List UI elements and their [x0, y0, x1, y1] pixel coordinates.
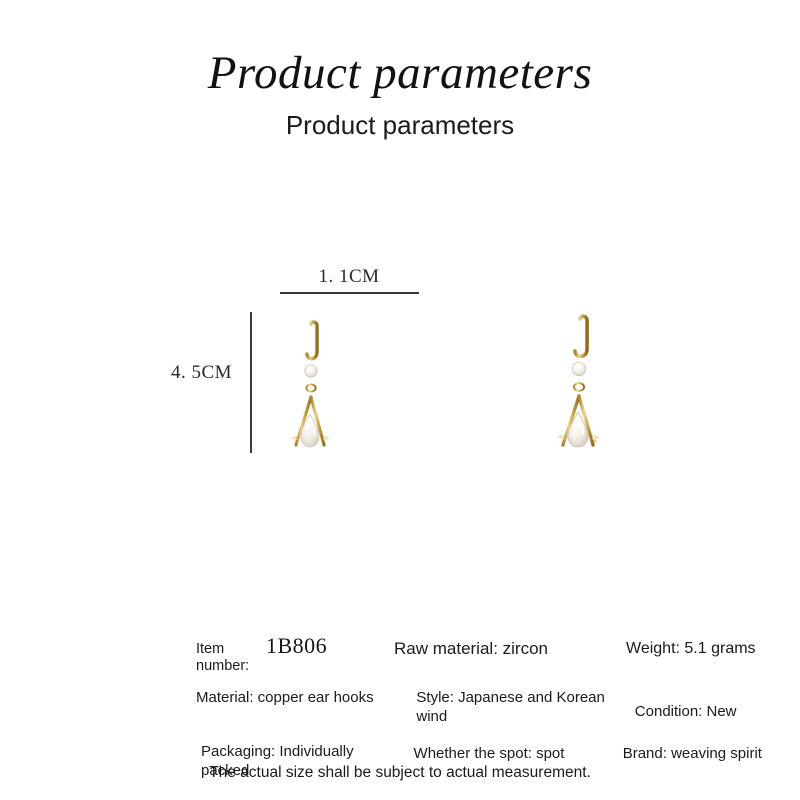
- page-title-script: Product parameters: [0, 48, 800, 100]
- dimension-width-label: 1. 1CM: [280, 266, 418, 288]
- spec-material: Material: copper ear hooks: [196, 689, 382, 708]
- dimension-height-rule: [250, 312, 252, 453]
- spec-item-number-value: 1B806: [266, 632, 327, 660]
- table-row: Material: copper ear hooks Style: Japane…: [196, 689, 776, 727]
- spec-item-number: Item number: 1B806: [196, 632, 394, 675]
- size-disclaimer: The actual size shall be subject to actu…: [0, 764, 800, 782]
- spec-item-number-label: Item number:: [196, 641, 258, 675]
- earring-left-icon: [284, 318, 354, 458]
- spec-weight: Weight: 5.1 grams: [626, 632, 776, 659]
- earring-image-right: [549, 313, 624, 463]
- spec-whether-spot: Whether the spot: spot: [380, 743, 623, 764]
- earring-right-icon: [549, 313, 624, 458]
- dimension-height-label: 4. 5CM: [171, 362, 232, 384]
- spec-style: Style: Japanese and Korean wind: [382, 689, 634, 727]
- spec-raw-material: Raw material: zircon: [394, 632, 626, 659]
- specification-table: Item number: 1B806 Raw material: zircon …: [196, 632, 776, 781]
- spec-condition: Condition: New: [635, 689, 776, 722]
- page-title-subtitle: Product parameters: [0, 110, 800, 141]
- dimension-width-rule: [280, 292, 419, 294]
- product-parameters-page: Product parameters Product parameters 1.…: [0, 0, 800, 800]
- spec-brand: Brand: weaving spirit: [623, 743, 776, 764]
- table-row: Item number: 1B806 Raw material: zircon …: [196, 632, 776, 675]
- earring-image-left: [284, 318, 354, 463]
